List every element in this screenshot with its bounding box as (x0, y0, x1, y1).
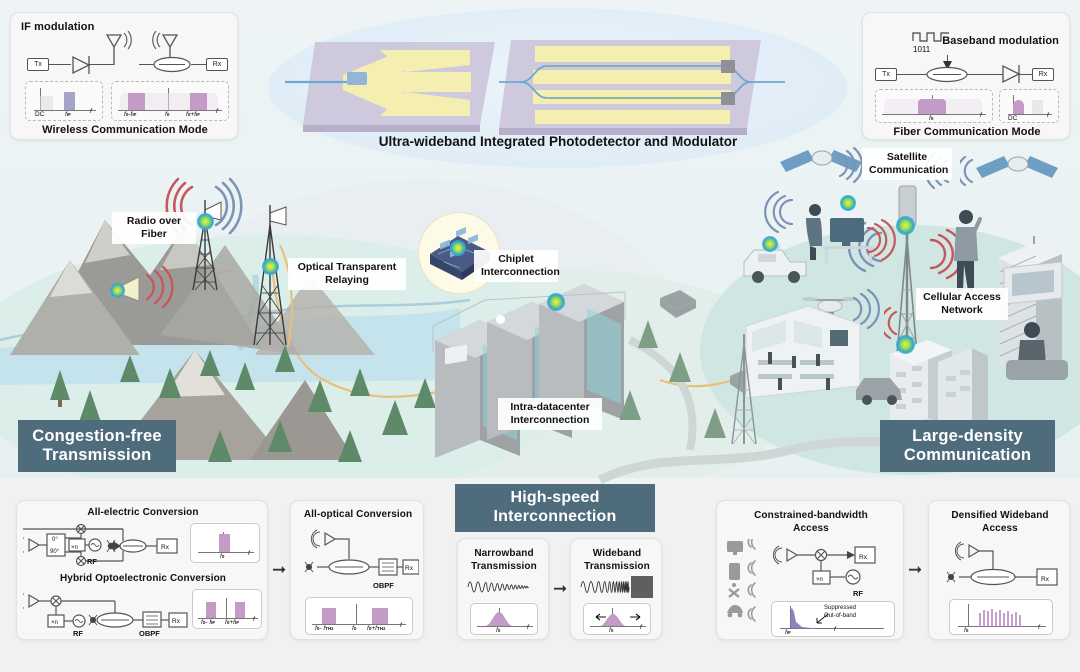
spectrum-if-baseband: DC fIF f (25, 81, 103, 121)
label-line-1: Optical Transparent (298, 261, 397, 273)
node-dot-chiplet (450, 240, 466, 256)
wireless-waves-antenna-left (95, 265, 175, 320)
spectrum-axis-y-dw (968, 604, 969, 626)
label-line-2: Fiber (141, 228, 167, 240)
spectrum-axis-x-3 (882, 114, 986, 115)
tick-axis-f-3: f (980, 112, 982, 119)
svg-text:0°: 0° (52, 537, 58, 543)
scene-label-satellite-communication: Satellite Communication (862, 148, 952, 180)
spectrum-wideband: f0 f (583, 603, 651, 635)
van-waves (762, 186, 816, 238)
svg-text:×n: ×n (71, 545, 78, 551)
tick-usb-ao: f0+fTHz (367, 625, 385, 632)
rx-node-wireless: Rx (206, 58, 228, 71)
spectrum-bar-carrier (918, 99, 946, 114)
wire-mod-to-pd-fiber (967, 74, 1003, 75)
tick-axis-f-ao: f (400, 622, 402, 629)
wire-pd-to-rx-fiber (1019, 74, 1033, 75)
spectrum-bar-f0-ae (219, 534, 230, 552)
tick-f0-minus-fif: f0-fIF (124, 111, 136, 118)
narrowband-chirp-waveform (466, 575, 542, 599)
label-line-1: Radio over (127, 215, 181, 227)
narrowband-title: Narrowband Transmission (458, 547, 550, 573)
wideband-chirp-waveform (579, 575, 655, 599)
svg-text:Rx: Rx (161, 544, 170, 551)
tick-f0-ao: f0 (352, 625, 356, 632)
tick-axis-f-nb: f (527, 624, 529, 631)
densified-access-diagram: Rx (935, 539, 1067, 597)
wire-tx-to-pd (49, 64, 71, 65)
label-line-2: Communication (869, 164, 948, 176)
tx-node-fiber: Tx (875, 68, 897, 81)
tick-usb-hy: f0+fIF (225, 619, 239, 626)
spectrum-all-optical-output: f0- fTHz f0 f0+fTHz f (305, 597, 413, 635)
panel-wideband-transmission: Wideband Transmission f0 f (570, 538, 662, 640)
annotation-line-1: Suppressed (824, 605, 856, 611)
tick-dc: DC (35, 111, 44, 118)
title-line-1: Wideband (593, 548, 642, 559)
panel-fiber-communication: Baseband modulation 1011 Tx Rx f0 f (862, 12, 1070, 140)
svg-text:Rx: Rx (1041, 576, 1050, 583)
panel-densified-wideband-access: Densified Wideband Access Rx (928, 500, 1070, 640)
constrained-rx-diagram: Rx ×n (773, 543, 901, 591)
node-dot-ground-station (110, 283, 125, 298)
chip-caption: Ultra-wideband Integrated Photodetector … (268, 134, 848, 149)
node-dot-datacenter (547, 293, 565, 311)
tick-f0: f0 (165, 111, 169, 118)
label-line-2: Interconnection (481, 266, 560, 278)
spectrum-bar-usb-ao (372, 608, 388, 624)
tick-f0-wb: f0 (609, 627, 613, 634)
wire-tx-to-mod-fiber (897, 74, 927, 75)
seated-person (1000, 316, 1078, 386)
bitstream-label: 1011 (913, 45, 930, 54)
obpf-label-hybrid: OBPF (139, 629, 160, 638)
title-line-2: Transmission (584, 561, 650, 572)
tick-axis-f-2: f (216, 108, 218, 115)
spectrum-all-electric-output: f0 f (190, 523, 260, 563)
scene-label-optical-transparent-relaying: Optical Transparent Relaying (288, 258, 406, 290)
hybrid-optoelectronic-diagram: ×n Rx (23, 587, 189, 635)
all-electric-diagram: 0° 90° ×n Rx (23, 521, 183, 567)
panel-fiber-caption: Fiber Communication Mode (863, 126, 1071, 138)
svg-text:×n: ×n (51, 620, 58, 626)
all-electric-conversion-title: All-electric Conversion (17, 507, 269, 518)
title-line-1: Constrained-bandwidth (754, 510, 868, 521)
constrained-access-title: Constrained-bandwidth Access (717, 509, 905, 535)
title-line-2: Access (982, 523, 1018, 534)
tick-axis-f-ae: f (248, 550, 250, 557)
banner-line-1: Congestion-free (32, 427, 162, 446)
scene-label-chiplet-interconnection: Chiplet Interconnection (474, 250, 558, 282)
arrow-narrowband-to-wideband: ➞ (553, 580, 567, 597)
rf-label-constrained: RF (853, 589, 863, 598)
tick-axis-f-wb: f (640, 624, 642, 631)
spectrum-bar-dc-fiber (1013, 100, 1024, 114)
banner-congestion-free-transmission: Congestion-free Transmission (18, 420, 176, 472)
tick-axis-f: f (90, 108, 92, 115)
wall-display (1000, 260, 1070, 308)
small-cellular-mast (726, 330, 762, 450)
banner-line-1: High-speed (510, 489, 599, 508)
spectrum-axis-x-ae (198, 552, 254, 553)
tick-lsb-ao: f0- fTHz (315, 625, 334, 632)
parked-car (850, 366, 910, 406)
tick-f0-nb: f0 (496, 627, 500, 634)
spectrum-axis-x-nb (477, 626, 533, 627)
svg-text:90°: 90° (50, 549, 60, 555)
tick-f0-dw: f0 (964, 627, 968, 634)
svg-text:×n: ×n (816, 577, 823, 583)
tx-node-wireless: Tx (27, 58, 49, 71)
scene-label-intra-datacenter: Intra-datacenter Interconnection (498, 398, 602, 430)
panel-all-optical-conversion: All-optical Conversion (290, 500, 424, 640)
modulator-symbol-wireless (153, 56, 191, 73)
pedestrian-with-phone (944, 205, 988, 295)
bitstream-waveform-icon (911, 29, 953, 45)
label-line-2: Interconnection (511, 414, 590, 426)
wideband-title: Wideband Transmission (571, 547, 663, 573)
tick-dc-fiber: DC (1008, 115, 1017, 122)
scene-label-cellular-access-network: Cellular Access Network (916, 288, 1008, 320)
title-line-2: Access (793, 523, 829, 534)
title-line-1: Densified Wideband (951, 510, 1048, 521)
spectrum-densified-output: f0 f (949, 599, 1053, 635)
spectrum-bar-lsb (128, 93, 145, 110)
spectrum-bar-lsb-hy (206, 602, 216, 618)
rack-indicator-dot (496, 315, 505, 324)
hybrid-conversion-title: Hybrid Optoelectronic Conversion (17, 573, 269, 584)
banner-line-2: Interconnection (493, 508, 616, 527)
label-line-2: Relaying (325, 274, 369, 286)
panel-wireless-caption: Wireless Communication Mode (11, 124, 239, 136)
title-line-1: Narrowband (474, 548, 533, 559)
spectrum-bar-lsb-ao (322, 608, 336, 624)
panel-narrowband-transmission: Narrowband Transmission f0 f (457, 538, 549, 640)
spectrum-constrained-output: Suppressed Out-of-band fIF f (771, 601, 895, 637)
desk-wireless-waves (862, 212, 912, 266)
spectrum-axis-x-wb (590, 626, 646, 627)
tick-axis-f-dw: f (1038, 624, 1040, 631)
panel-fiber-title: Baseband modulation (942, 35, 1059, 47)
all-optical-conversion-title: All-optical Conversion (291, 509, 425, 520)
label-line-1: Intra-datacenter (510, 401, 589, 413)
node-dot-desk (840, 195, 856, 211)
banner-high-speed-interconnection: High-speed Interconnection (455, 484, 655, 532)
node-dot-van (762, 236, 778, 252)
spectrum-hybrid-output: f0- fIF f0+fIF f (192, 589, 262, 629)
tick-axis-f-cb: f (834, 626, 836, 633)
label-line-1: Cellular Access (923, 291, 1001, 303)
arrow-constrained-to-densified: ➞ (908, 561, 922, 578)
node-dot-relay-tower (262, 258, 279, 275)
panel-conversion-methods: All-electric Conversion (16, 500, 268, 640)
spectrum-bar-image (1032, 100, 1043, 114)
all-optical-diagram: Rx (299, 525, 419, 583)
label-line-1: Satellite (887, 151, 927, 163)
spectrum-bar-usb (190, 93, 207, 110)
densified-access-title: Densified Wideband Access (929, 509, 1071, 535)
rf-label-all-electric: RF (87, 557, 97, 566)
tick-lsb-hy: f0- fIF (201, 619, 215, 626)
infographic-root: Ultra-wideband Integrated Photodetector … (0, 0, 1080, 672)
svg-text:Rx: Rx (172, 618, 181, 625)
transmit-antenna-icon (103, 31, 143, 67)
tick-f0-plus-fif: f0+fIF (186, 111, 200, 118)
tick-f-if: fIF (65, 111, 71, 118)
spectrum-narrowband: f0 f (470, 603, 538, 635)
spectrum-fiber-optical: f0 f (875, 89, 993, 123)
integrated-chip-illustration (285, 20, 835, 140)
panel-wireless-communication: IF modulation Tx Rx (10, 12, 238, 140)
panel-constrained-bandwidth-access: Constrained-bandwidth Access (716, 500, 904, 640)
svg-text:Rx: Rx (405, 565, 414, 572)
spectrum-axis-y-ao (356, 604, 357, 624)
narrowband-peak (485, 610, 515, 626)
panel-wireless-title: IF modulation (21, 21, 94, 33)
annotation-pointer-arrow-icon (814, 613, 830, 625)
banner-large-density-communication: Large-density Communication (880, 420, 1055, 472)
rf-label-hybrid: RF (73, 629, 83, 638)
banner-line-2: Transmission (43, 446, 152, 465)
spectrum-fiber-baseband: DC f (999, 89, 1059, 123)
rx-node-fiber: Rx (1032, 68, 1054, 81)
svg-text:Rx: Rx (859, 554, 868, 561)
tick-f0-ae: f0 (220, 553, 224, 560)
spectrum-bar-if (64, 92, 75, 110)
title-line-2: Transmission (471, 561, 537, 572)
banner-line-1: Large-density (912, 427, 1023, 446)
label-line-2: Network (941, 304, 982, 316)
bandwidth-arrows-icon (590, 612, 646, 622)
label-line-1: Chiplet (498, 253, 534, 265)
spectrum-bar-usb-hy (235, 602, 245, 618)
tick-axis-f-4: f (1047, 112, 1049, 119)
banner-line-2: Communication (904, 446, 1031, 465)
spectrum-bar-dc (40, 96, 53, 110)
spectrum-axis-y-hy (226, 598, 227, 618)
modulator-symbol-fiber (926, 66, 968, 83)
tick-f0-fiber: f0 (929, 115, 933, 122)
densified-comb-lines (978, 606, 1024, 627)
scene-label-radio-over-fiber: Radio over Fiber (112, 212, 196, 244)
tick-axis-f-hy: f (253, 616, 255, 623)
tick-fif-cb: fIF (785, 629, 791, 636)
obpf-label-all-optical: OBPF (373, 581, 394, 590)
wire-mod-to-rx (191, 64, 207, 65)
arrow-conversion-to-all-optical: ➞ (272, 561, 286, 578)
spectrum-optical-sidebands: f0-fIF f0 f0+fIF f (111, 81, 229, 121)
